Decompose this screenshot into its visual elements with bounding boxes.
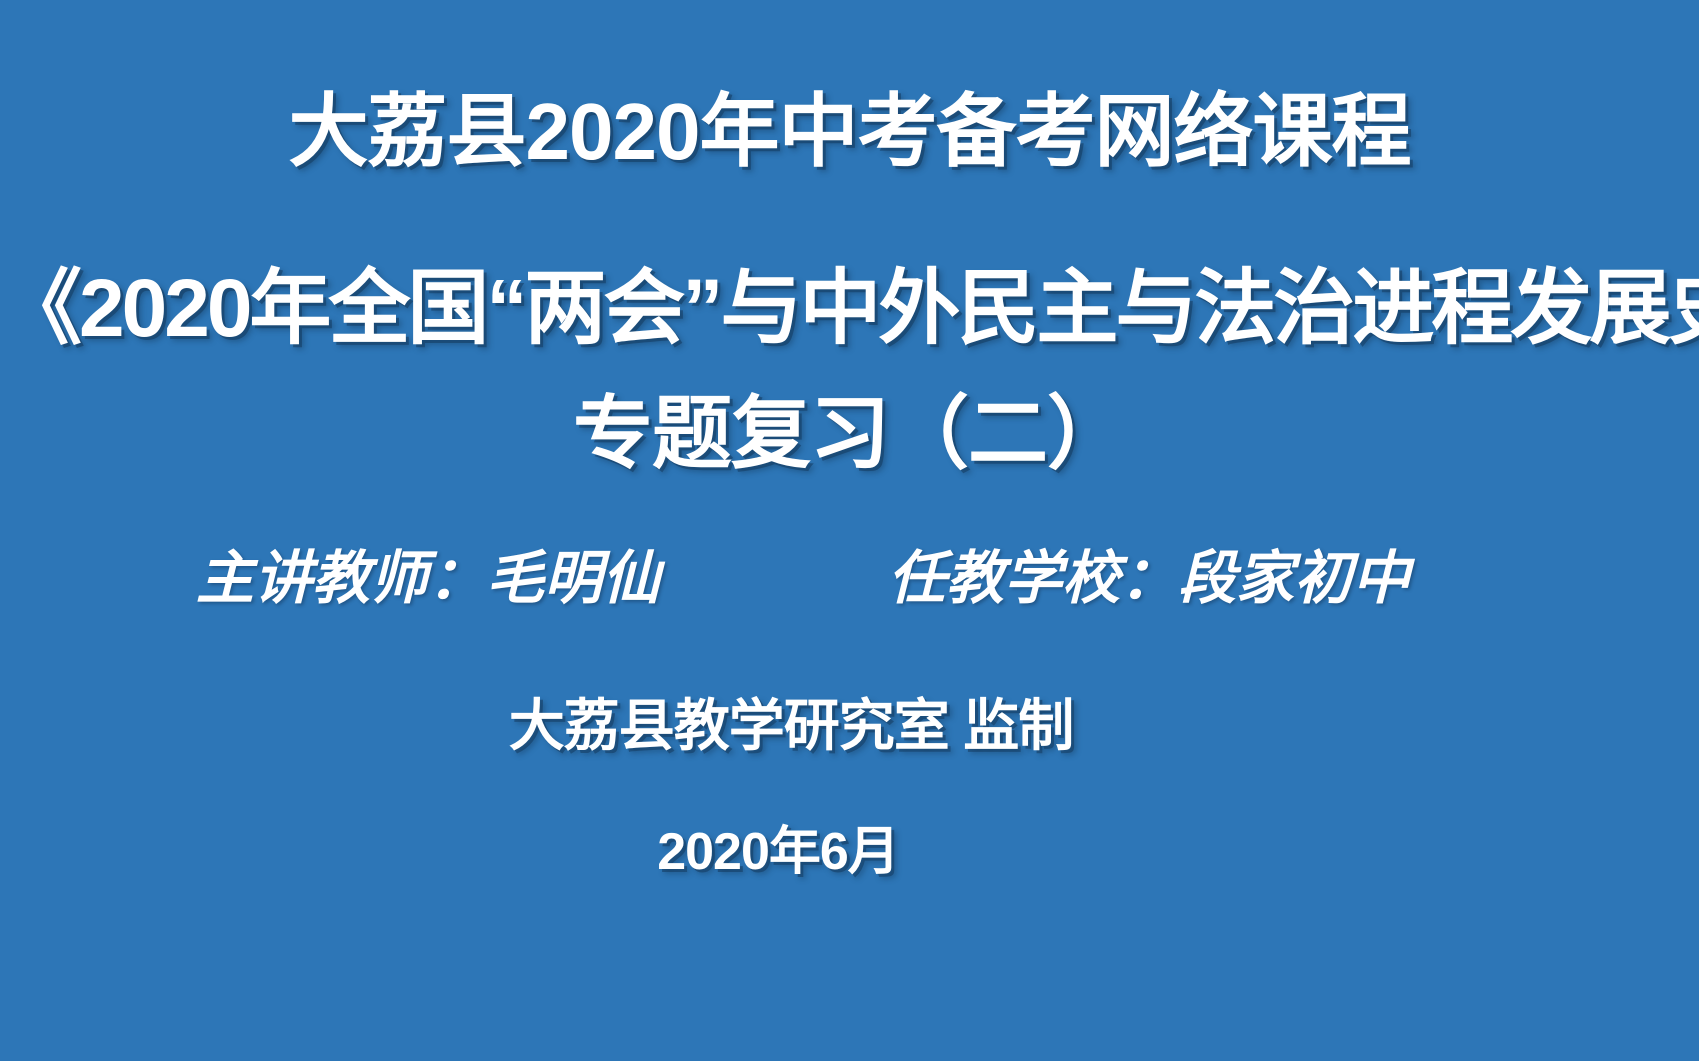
presenter-school-label: 任教学校：段家初中 — [888, 550, 1410, 608]
date-line: 2020年6月 — [0, 826, 1556, 878]
course-title-line: 大荔县2020年中考备考网络课程 — [0, 92, 1699, 172]
presenter-teacher-label: 主讲教师：毛明仙 — [196, 550, 660, 608]
topic-title-line: 《2020年全国“两会”与中外民主与法治进程发展史》 — [0, 268, 1699, 350]
presenter-row: 主讲教师：毛明仙 任教学校：段家初中 — [0, 550, 1699, 640]
subtitle-line: 专题复习（二） — [0, 394, 1699, 474]
presentation-title-slide: 大荔县2020年中考备考网络课程 《2020年全国“两会”与中外民主与法治进程发… — [0, 0, 1699, 1061]
producer-credit-line: 大荔县教学研究室 监制 — [0, 698, 1582, 754]
